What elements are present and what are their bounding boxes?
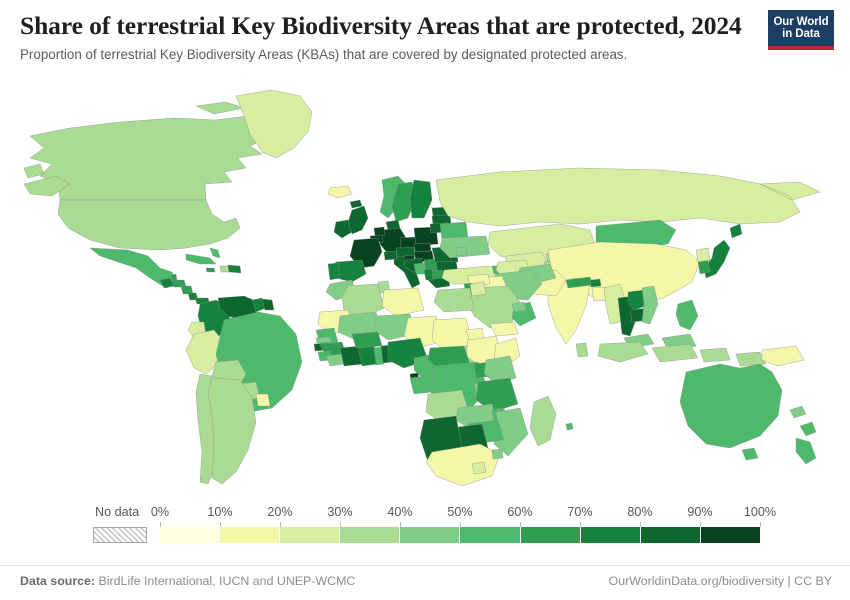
legend-bin-0-10[interactable] bbox=[160, 527, 220, 543]
data-source-text: BirdLife International, IUCN and UNEP-WC… bbox=[99, 574, 356, 588]
no-data-swatch[interactable] bbox=[93, 527, 147, 543]
legend-color-ramp[interactable] bbox=[160, 527, 760, 543]
legend-bin-40-50[interactable] bbox=[400, 527, 460, 543]
legend-tick-90pct: 90% bbox=[687, 505, 712, 519]
legend-bin-90-100[interactable] bbox=[701, 527, 760, 543]
country-new-caledonia[interactable]: New Caledonia: 44% bbox=[790, 406, 806, 418]
chart-subtitle: Proportion of terrestrial Key Biodiversi… bbox=[20, 47, 830, 64]
country-haiti[interactable]: Haiti: 34% bbox=[220, 266, 229, 272]
country-indonesia[interactable]: Indonesia: 32% bbox=[598, 342, 766, 366]
world-choropleth-map[interactable]: Canada: 34%Greenland: 26%United States: … bbox=[0, 72, 850, 497]
legend-bin-60-70[interactable] bbox=[521, 527, 581, 543]
country-north-macedonia[interactable]: North Macedonia: 66% bbox=[432, 270, 443, 279]
country-moldova[interactable]: Moldova: 46% bbox=[456, 247, 467, 256]
logo-line-1: Our World bbox=[773, 16, 828, 28]
logo-line-2: in Data bbox=[782, 28, 820, 40]
data-source: Data source: BirdLife International, IUC… bbox=[20, 574, 355, 588]
country-burkina-faso[interactable]: Burkina Faso: 62% bbox=[352, 332, 382, 348]
country-bangladesh[interactable]: Bangladesh: 18% bbox=[592, 287, 606, 301]
legend-tick-20pct: 20% bbox=[267, 505, 292, 519]
page-title: Share of terrestrial Key Biodiversity Ar… bbox=[20, 12, 830, 41]
country-egypt[interactable]: Egypt: 32% bbox=[434, 288, 474, 312]
country-cuba[interactable]: Cuba: 56% bbox=[186, 254, 216, 264]
country-mauritius[interactable]: Mauritius: 52% bbox=[566, 423, 573, 430]
legend-tick-10pct: 10% bbox=[207, 505, 232, 519]
country-libya[interactable]: Libya: 12% bbox=[382, 288, 424, 316]
legend-tick-labels: 0%10%20%30%40%50%60%70%80%90%100% bbox=[160, 505, 760, 527]
legend-tick-70pct: 70% bbox=[567, 505, 592, 519]
country-bahamas[interactable]: Bahamas: 52% bbox=[210, 248, 220, 258]
map-legend: No data 0%10%20%30%40%50%60%70%80%90%100… bbox=[0, 505, 850, 553]
country-lesotho[interactable]: Lesotho: 24% bbox=[472, 462, 486, 474]
legend-bin-30-40[interactable] bbox=[340, 527, 400, 543]
country-russia[interactable]: Russia: 28% bbox=[436, 168, 820, 226]
data-source-prefix: Data source: bbox=[20, 574, 95, 588]
legend-tick-mark bbox=[760, 522, 761, 527]
legend-tick-100pct: 100% bbox=[744, 505, 776, 519]
country-portugal[interactable]: Portugal: 74% bbox=[328, 263, 340, 280]
country-bhutan[interactable]: Bhutan: 74% bbox=[590, 279, 601, 287]
country-gambia[interactable]: Gambia: 46% bbox=[316, 337, 331, 343]
map-svg: Canada: 34%Greenland: 26%United States: … bbox=[0, 72, 850, 497]
country-liberia[interactable]: Liberia: 46% bbox=[326, 354, 344, 366]
legend-tick-60pct: 60% bbox=[507, 505, 532, 519]
country-papua-new-guinea[interactable]: Papua New Guinea: 12% bbox=[762, 346, 804, 366]
country-uruguay[interactable]: Uruguay: 14% bbox=[256, 394, 270, 406]
country-argentina[interactable]: Argentina: 36% bbox=[208, 378, 256, 484]
country-australia[interactable]: Australia: 56% bbox=[680, 364, 782, 460]
country-philippines[interactable]: Philippines: 52% bbox=[676, 300, 698, 330]
chart-footer: Data source: BirdLife International, IUC… bbox=[0, 565, 850, 595]
country-finland[interactable]: Finland: 72% bbox=[410, 180, 432, 218]
legend-tick-40pct: 40% bbox=[387, 505, 412, 519]
attribution-link[interactable]: OurWorldinData.org/biodiversity | CC BY bbox=[609, 574, 832, 588]
country-switzerland[interactable]: Switzerland: 86% bbox=[384, 251, 397, 260]
country-layer: Canada: 34%Greenland: 26%United States: … bbox=[24, 90, 820, 486]
legend-bin-10-20[interactable] bbox=[220, 527, 280, 543]
country-dominican-republic[interactable]: Dominican Republic: 78% bbox=[228, 265, 241, 273]
legend-bin-20-30[interactable] bbox=[280, 527, 340, 543]
country-north-korea[interactable]: North Korea: 22% bbox=[696, 248, 710, 262]
country-sri-lanka[interactable]: Sri Lanka: 32% bbox=[576, 343, 588, 357]
legend-tick-30pct: 30% bbox=[327, 505, 352, 519]
country-yemen[interactable]: Yemen: 18% bbox=[490, 322, 518, 336]
owid-map-chart: Share of terrestrial Key Biodiversity Ar… bbox=[0, 0, 850, 600]
country-madagascar[interactable]: Madagascar: 32% bbox=[530, 396, 556, 446]
legend-tick-80pct: 80% bbox=[627, 505, 652, 519]
country-united-kingdom[interactable]: United Kingdom: 88% bbox=[348, 200, 368, 234]
country-jordan[interactable]: Jordan: 22% bbox=[470, 282, 486, 296]
legend-bin-50-60[interactable] bbox=[460, 527, 520, 543]
country-eswatini[interactable]: Eswatini: 46% bbox=[492, 449, 503, 459]
chart-header: Share of terrestrial Key Biodiversity Ar… bbox=[20, 12, 830, 63]
country-slovakia[interactable]: Slovakia: 92% bbox=[414, 243, 431, 252]
owid-logo[interactable]: Our World in Data bbox=[768, 10, 834, 50]
legend-bin-80-90[interactable] bbox=[641, 527, 701, 543]
country-south-korea[interactable]: South Korea: 62% bbox=[698, 260, 710, 274]
country-united-arab-emirates[interactable]: United Arab Emirates: 46% bbox=[512, 302, 526, 312]
country-nicaragua[interactable]: Nicaragua: 66% bbox=[181, 286, 193, 294]
country-jamaica[interactable]: Jamaica: 62% bbox=[206, 268, 215, 272]
country-iceland[interactable]: Iceland: 14% bbox=[328, 186, 352, 198]
legend-tick-0pct: 0% bbox=[151, 505, 169, 519]
country-bosnia-and-herzegovina[interactable]: Bosnia and Herzegovina: 52% bbox=[414, 263, 426, 274]
legend-bin-70-80[interactable] bbox=[581, 527, 641, 543]
legend-tick-50pct: 50% bbox=[447, 505, 472, 519]
no-data-label: No data bbox=[95, 505, 139, 519]
country-new-zealand[interactable]: New Zealand: 58% bbox=[796, 422, 816, 464]
country-netherlands[interactable]: Netherlands: 94% bbox=[374, 227, 385, 236]
